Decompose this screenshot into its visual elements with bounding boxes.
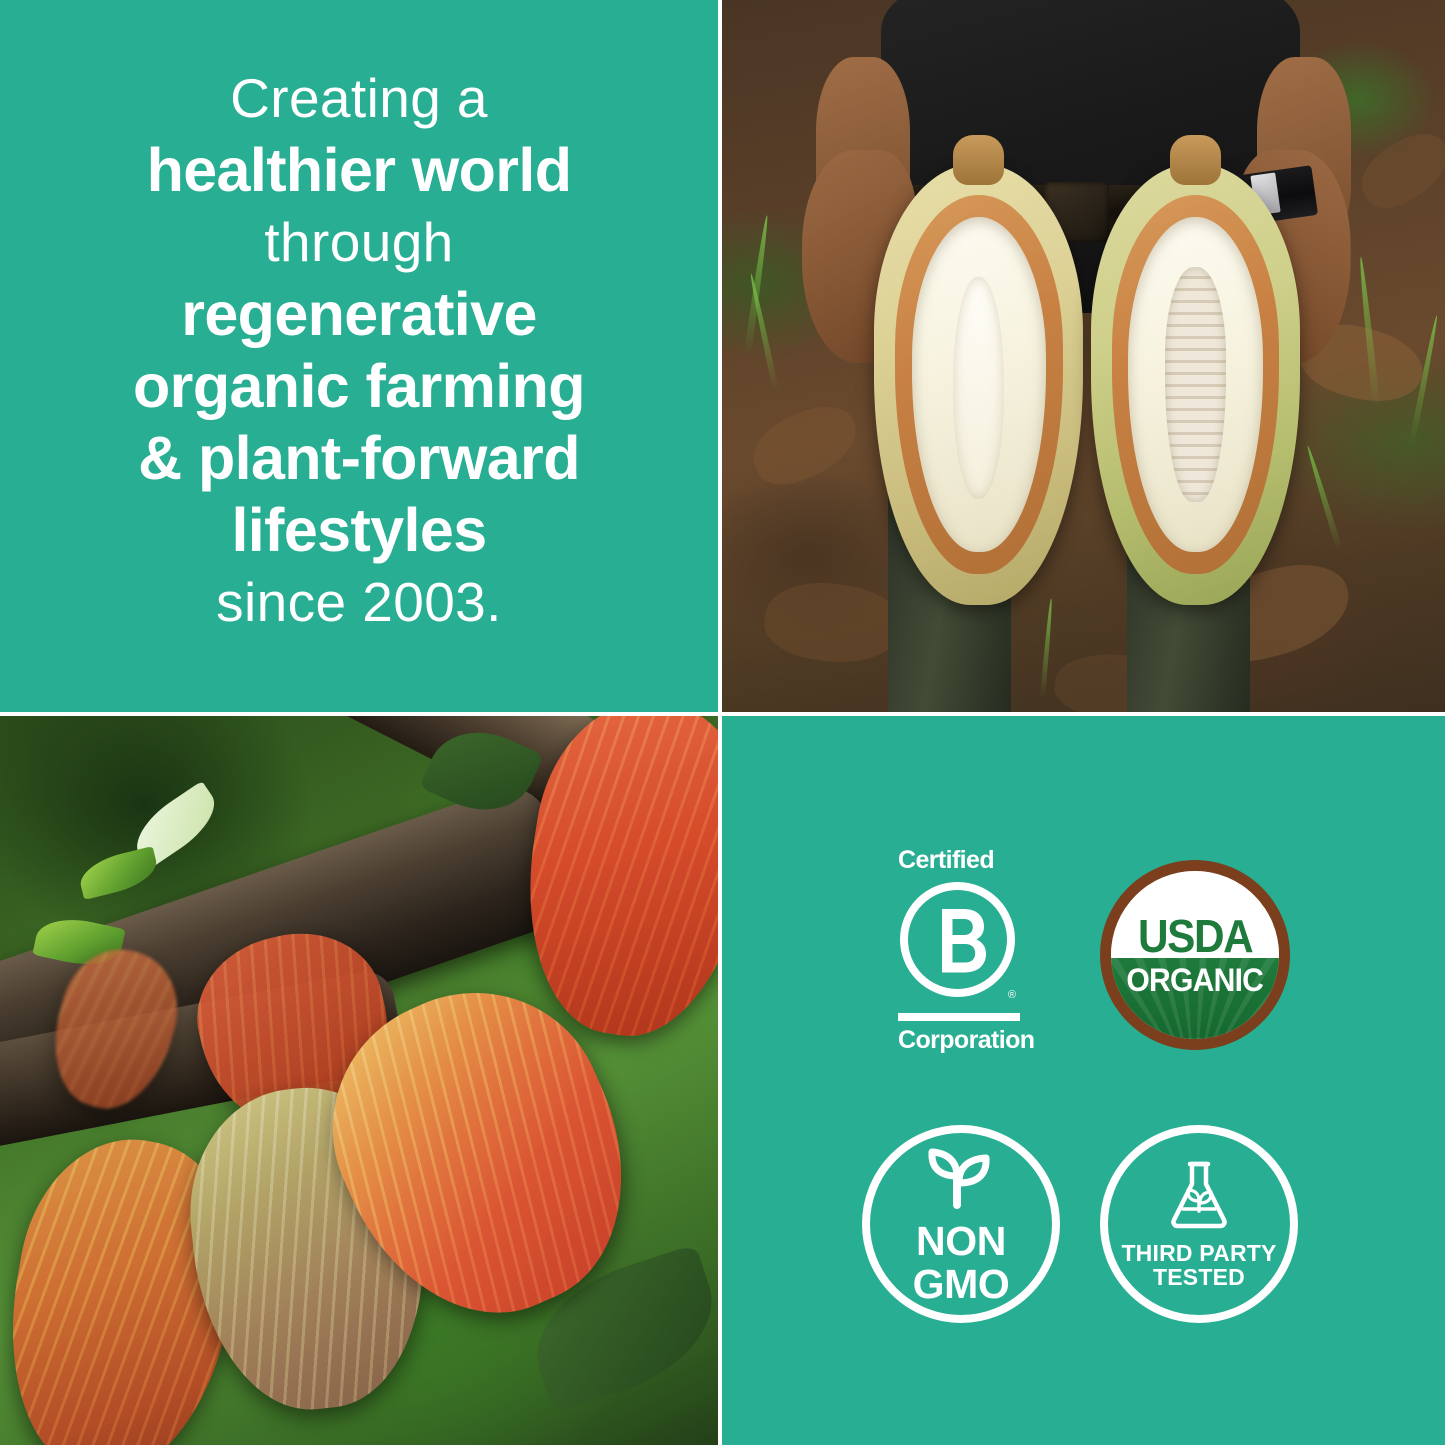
cacao-pod-half-right — [1091, 164, 1301, 605]
mission-line-6: & plant-forward — [34, 422, 684, 494]
mission-line-7: lifestyles — [34, 494, 684, 566]
usda-organic-label: ORGANIC — [1127, 964, 1264, 996]
certifications-panel: Certified ® Corporation USDA — [722, 716, 1445, 1445]
badge-certified-b-corporation[interactable]: Certified ® Corporation — [898, 848, 1024, 1053]
non-gmo-caption-line2: GMO — [913, 1263, 1010, 1305]
sprout-icon — [924, 1143, 998, 1214]
pod-stem — [1170, 135, 1221, 185]
pod-stem — [953, 135, 1004, 185]
mission-line-1: Creating a — [34, 62, 684, 134]
b-corp-circle-b-icon: ® — [898, 880, 1017, 999]
pod-beans — [1165, 267, 1227, 502]
pods-on-tree-scene — [0, 716, 718, 1445]
photo-pods-on-tree — [0, 716, 718, 1445]
cacao-pod-half-left — [874, 164, 1084, 605]
promo-collage: Creating a healthier world through regen… — [0, 0, 1445, 1445]
registered-trademark-icon: ® — [1008, 990, 1016, 1001]
mission-panel: Creating a healthier world through regen… — [0, 0, 718, 712]
third-party-caption: THIRD PARTY TESTED — [1121, 1242, 1276, 1289]
mission-line-4: regenerative — [34, 278, 684, 350]
pods-in-hands-scene — [722, 0, 1445, 712]
bcorp-corporation-label: Corporation — [898, 1028, 1024, 1053]
third-party-caption-line1: THIRD PARTY — [1121, 1242, 1276, 1266]
mission-line-5: organic farming — [34, 350, 684, 422]
certification-badge-grid: Certified ® Corporation USDA — [722, 716, 1445, 1445]
usda-seal-bottom: ORGANIC — [1111, 958, 1279, 1039]
pod-pulp — [953, 277, 1004, 498]
usda-wordmark: USDA — [1138, 915, 1252, 959]
badge-third-party-tested[interactable]: THIRD PARTY TESTED — [1100, 1125, 1298, 1323]
usda-seal-inner: USDA ORGANIC — [1111, 871, 1279, 1039]
mission-line-2: healthier world — [34, 134, 684, 206]
non-gmo-caption-line1: NON — [913, 1220, 1010, 1262]
bcorp-certified-label: Certified — [898, 848, 1024, 873]
mission-line-8: since 2003. — [34, 566, 684, 638]
bcorp-divider — [898, 1013, 1020, 1021]
pod-cavity — [1128, 217, 1262, 552]
mission-line-3: through — [34, 206, 684, 278]
photo-pods-in-hands — [722, 0, 1445, 712]
badge-usda-organic[interactable]: USDA ORGANIC — [1100, 860, 1290, 1050]
pod-cavity — [912, 217, 1046, 552]
third-party-caption-line2: TESTED — [1121, 1266, 1276, 1290]
badge-non-gmo[interactable]: NON GMO — [862, 1125, 1060, 1323]
flask-with-leaves-icon — [1166, 1159, 1232, 1236]
non-gmo-caption: NON GMO — [913, 1220, 1010, 1304]
usda-seal-top: USDA — [1111, 871, 1279, 958]
mission-statement: Creating a healthier world through regen… — [0, 62, 718, 638]
